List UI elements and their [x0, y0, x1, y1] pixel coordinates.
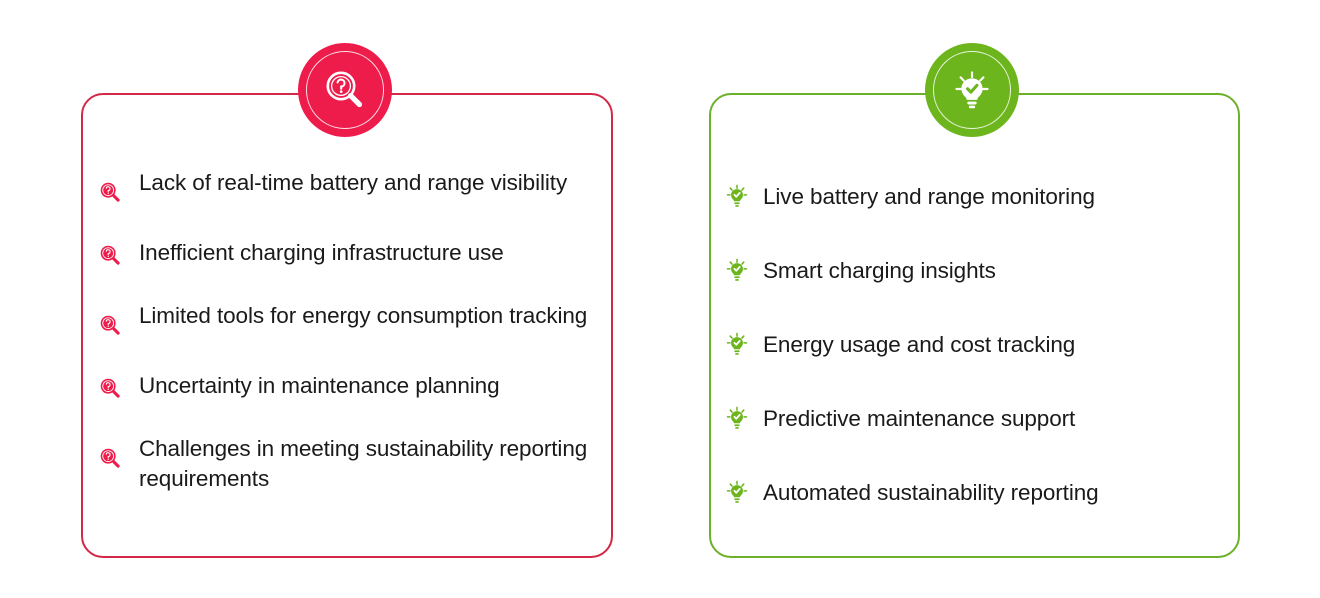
lightbulb-check-icon [723, 404, 751, 434]
list-item-label: Limited tools for energy consumption tra… [139, 301, 587, 331]
problems-badge [298, 43, 392, 137]
list-item: Inefficient charging infrastructure use [97, 238, 597, 271]
list-item: Automated sustainability reporting [723, 478, 1223, 508]
list-item: Energy usage and cost tracking [723, 330, 1223, 360]
lightbulb-check-icon [723, 330, 751, 360]
list-item-label: Smart charging insights [763, 256, 996, 286]
list-item-label: Automated sustainability reporting [763, 478, 1099, 508]
list-item-label: Predictive maintenance support [763, 404, 1075, 434]
lightbulb-check-icon [723, 182, 751, 212]
comparison-infographic: Lack of real-time battery and range visi… [0, 0, 1320, 598]
magnifier-question-icon [97, 311, 125, 341]
lightbulb-check-icon [723, 478, 751, 508]
list-item-label: Energy usage and cost tracking [763, 330, 1075, 360]
magnifier-question-icon [97, 241, 125, 271]
magnifier-question-icon [97, 374, 125, 404]
list-item-label: Inefficient charging infrastructure use [139, 238, 504, 268]
list-item: Uncertainty in maintenance planning [97, 371, 597, 404]
list-item: Limited tools for energy consumption tra… [97, 301, 597, 341]
list-item: Challenges in meeting sustainability rep… [97, 434, 597, 494]
list-item: Live battery and range monitoring [723, 182, 1223, 212]
list-item: Lack of real-time battery and range visi… [97, 168, 597, 208]
list-item: Predictive maintenance support [723, 404, 1223, 434]
magnifier-question-icon [97, 444, 125, 474]
lightbulb-check-icon [723, 256, 751, 286]
list-item: Smart charging insights [723, 256, 1223, 286]
list-item-label: Uncertainty in maintenance planning [139, 371, 499, 401]
list-item-label: Lack of real-time battery and range visi… [139, 168, 567, 198]
solutions-list: Live battery and range monitoring [723, 182, 1223, 552]
problems-list: Lack of real-time battery and range visi… [97, 168, 597, 494]
list-item-label: Challenges in meeting sustainability rep… [139, 434, 597, 494]
list-item-label: Live battery and range monitoring [763, 182, 1095, 212]
lightbulb-check-icon [948, 66, 996, 114]
magnifier-question-icon [322, 67, 368, 113]
magnifier-question-icon [97, 178, 125, 208]
solutions-badge [925, 43, 1019, 137]
